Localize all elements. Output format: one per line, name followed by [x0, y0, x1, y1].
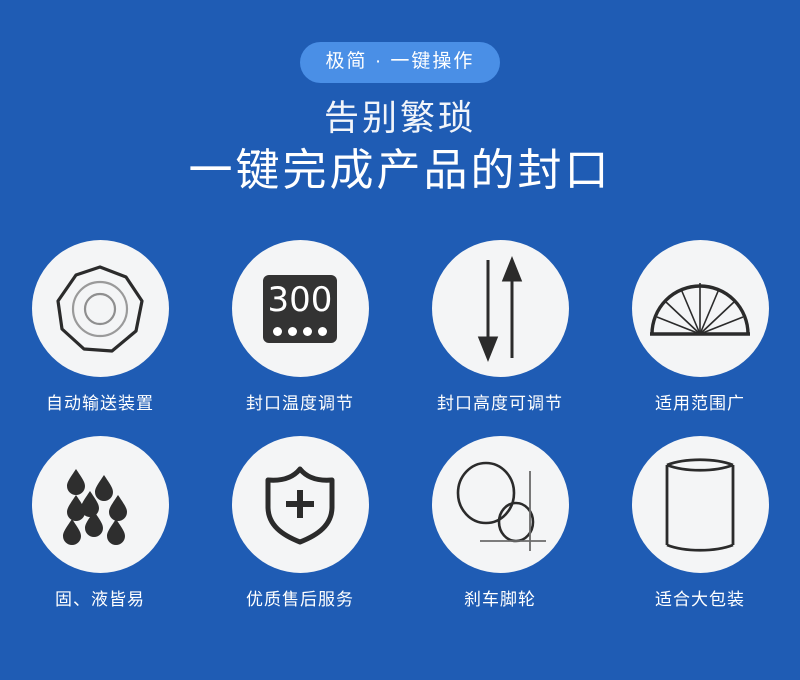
- temperature-display-icon: 300: [263, 275, 337, 343]
- temperature-value: 300: [263, 278, 337, 322]
- icon-circle: [632, 436, 769, 573]
- caster-wheel-icon: [450, 455, 550, 555]
- tagline-badge: 极简 · 一键操作: [300, 42, 501, 83]
- octagon-roller-icon: [50, 259, 150, 359]
- feature-banner: 极简 · 一键操作 告别繁琐 一键完成产品的封口 自动输送装置: [0, 0, 800, 680]
- display-indicator-dots: [263, 327, 337, 336]
- feature-cell-temperature: 300 封口温度调节: [200, 240, 400, 414]
- feature-cell-auto-conveyor: 自动输送装置: [0, 240, 200, 414]
- badge-row: 极简 · 一键操作: [0, 42, 800, 83]
- icon-circle: [432, 240, 569, 377]
- icon-circle: [32, 240, 169, 377]
- feature-grid: 自动输送装置 300 封口温度调节: [0, 240, 800, 633]
- icon-circle: [32, 436, 169, 573]
- feature-cell-solid-liquid: 固、液皆易: [0, 436, 200, 610]
- feature-label: 优质售后服务: [246, 590, 354, 610]
- icon-circle: 300: [232, 240, 369, 377]
- feature-label: 刹车脚轮: [464, 590, 536, 610]
- feature-label: 封口高度可调节: [437, 394, 563, 414]
- feature-row-1: 自动输送装置 300 封口温度调节: [0, 240, 800, 414]
- feature-label: 固、液皆易: [55, 590, 145, 610]
- icon-circle: [632, 240, 769, 377]
- feature-label: 适用范围广: [655, 394, 745, 414]
- feature-cell-application-range: 适用范围广: [600, 240, 800, 414]
- feature-row-2: 固、液皆易 优质售后服务: [0, 436, 800, 610]
- headline-secondary: 一键完成产品的封口: [0, 146, 800, 197]
- feature-cell-height-adjust: 封口高度可调节: [400, 240, 600, 414]
- indicator-dot: [303, 327, 312, 336]
- icon-circle: [432, 436, 569, 573]
- feature-label: 自动输送装置: [46, 394, 154, 414]
- cylinder-package-icon: [657, 457, 743, 553]
- up-down-arrows-icon: [450, 254, 550, 364]
- headline-primary: 告别繁琐: [0, 100, 800, 139]
- feature-label: 适合大包装: [655, 590, 745, 610]
- feature-cell-brake-caster: 刹车脚轮: [400, 436, 600, 610]
- feature-cell-large-package: 适合大包装: [600, 436, 800, 610]
- icon-circle: [232, 436, 369, 573]
- feature-cell-after-sales: 优质售后服务: [200, 436, 400, 610]
- water-droplets-icon: [54, 459, 146, 551]
- shield-plus-icon: [260, 463, 340, 547]
- fan-semicircle-icon: [648, 278, 752, 340]
- indicator-dot: [288, 327, 297, 336]
- indicator-dot: [273, 327, 282, 336]
- indicator-dot: [318, 327, 327, 336]
- feature-label: 封口温度调节: [246, 394, 354, 414]
